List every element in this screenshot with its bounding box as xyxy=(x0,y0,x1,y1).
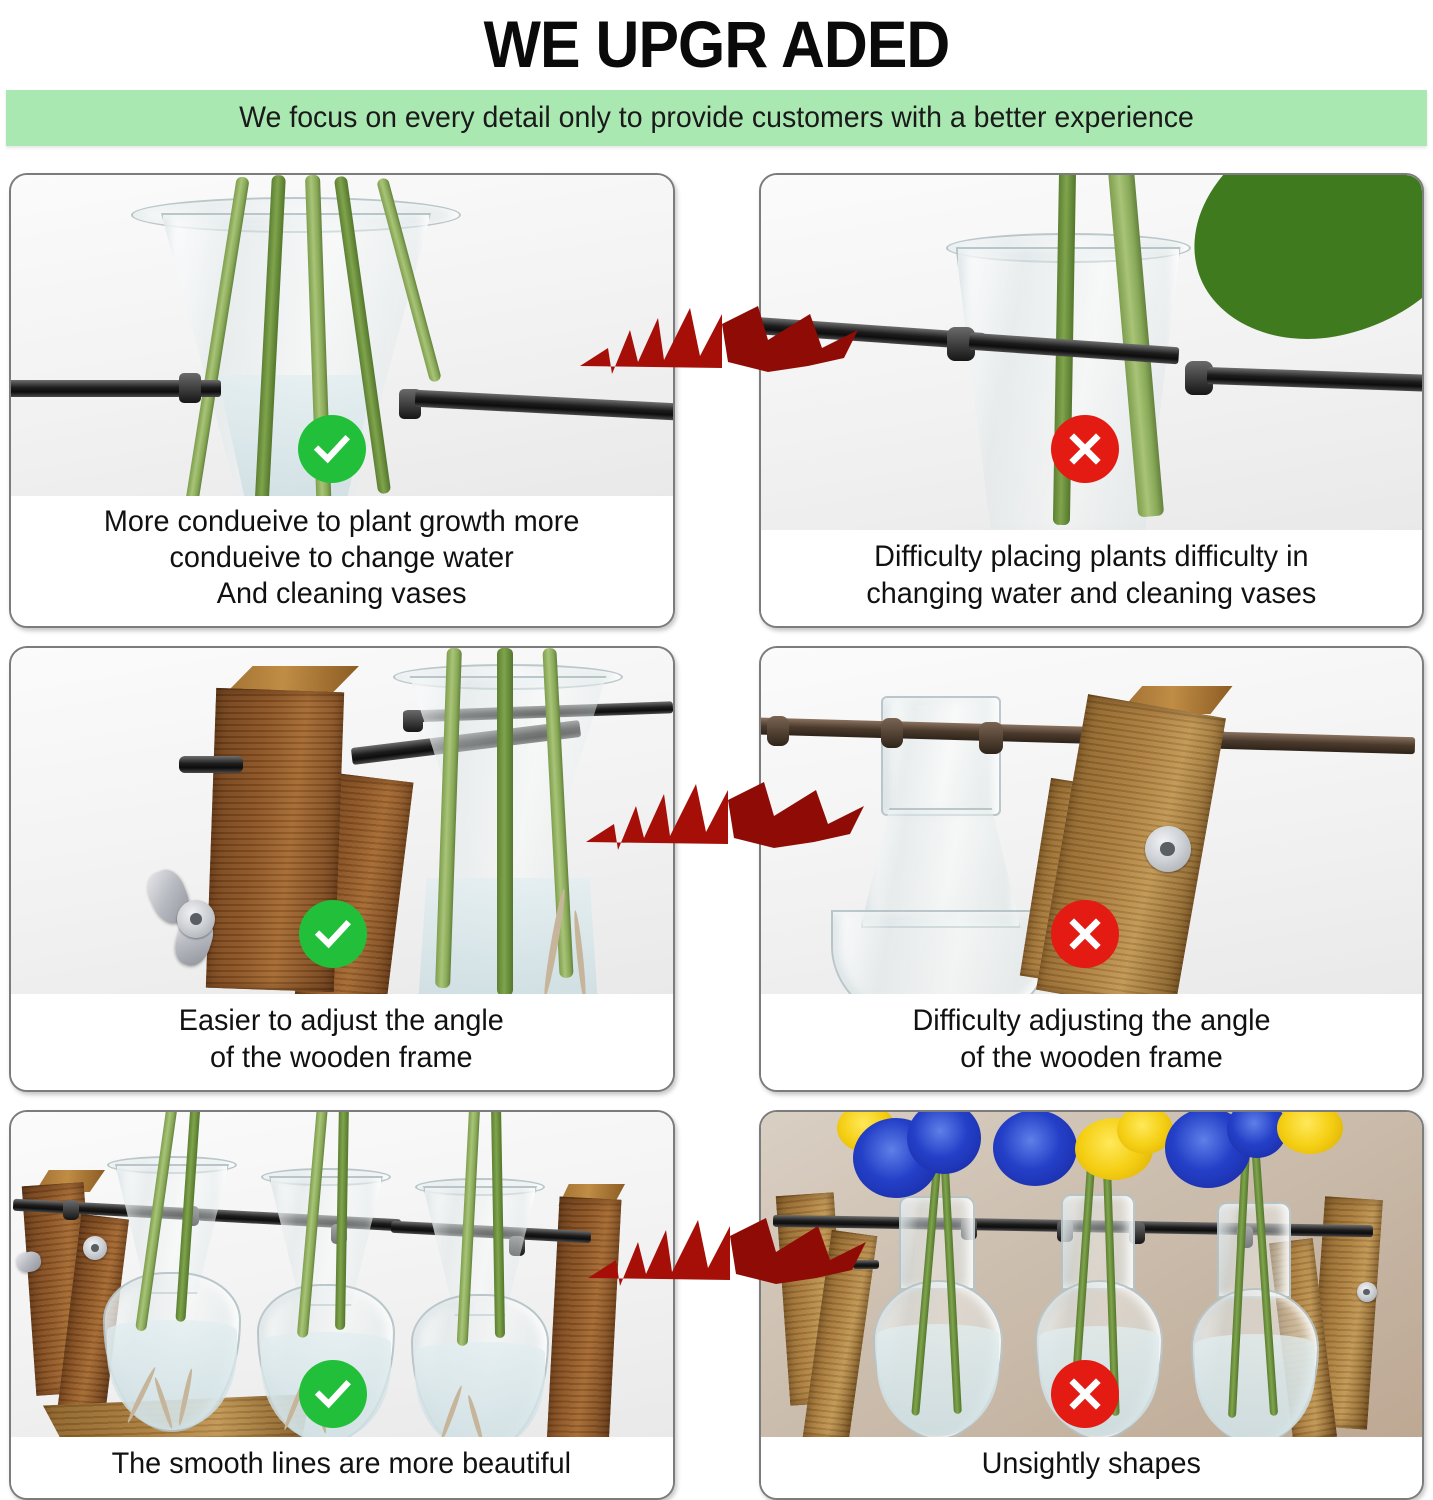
status-badge-bad xyxy=(1051,900,1119,968)
subtitle-text: We focus on every detail only to provide… xyxy=(239,101,1194,135)
comparison-panel-top-left: More condueive to plant growth more cond… xyxy=(9,173,675,628)
comparison-panel-mid-left: Easier to adjust the angle of the wooden… xyxy=(9,646,675,1092)
caption-text: Unsightly shapes xyxy=(982,1445,1201,1482)
check-mark-icon xyxy=(310,427,354,471)
panel-caption-mid-right: Difficulty adjusting the angle of the wo… xyxy=(761,994,1423,1090)
product-photo-good-stand xyxy=(11,1112,673,1437)
product-photo-good-vase xyxy=(11,175,673,496)
check-mark-icon xyxy=(311,912,355,956)
caption-text: Difficulty adjusting the angle of the wo… xyxy=(912,1002,1270,1076)
comparison-panel-bottom-left: The smooth lines are more beautiful xyxy=(9,1110,675,1500)
product-photo-bad-stand xyxy=(761,1112,1423,1437)
product-photo-good-frame xyxy=(11,648,673,994)
panel-caption-top-left: More condueive to plant growth more cond… xyxy=(11,496,673,626)
subtitle-banner: We focus on every detail only to provide… xyxy=(6,90,1427,146)
panel-caption-top-right: Difficulty placing plants difficulty in … xyxy=(761,530,1423,626)
check-mark-icon xyxy=(311,1372,355,1416)
caption-text: Difficulty placing plants difficulty in … xyxy=(866,538,1316,612)
status-badge-bad xyxy=(1051,415,1119,483)
comparison-grid: More condueive to plant growth more cond… xyxy=(0,173,1433,1500)
comparison-panel-top-right: Difficulty placing plants difficulty in … xyxy=(759,173,1425,628)
status-badge-good xyxy=(299,1360,367,1428)
product-photo-bad-frame xyxy=(761,648,1423,994)
page-title: WE UPGR ADED xyxy=(57,0,1375,88)
cross-mark-icon xyxy=(1063,1372,1107,1416)
cross-mark-icon xyxy=(1063,912,1107,956)
panel-caption-bottom-right: Unsightly shapes xyxy=(761,1437,1423,1498)
status-badge-good xyxy=(299,900,367,968)
caption-text: The smooth lines are more beautiful xyxy=(112,1445,571,1482)
product-photo-bad-vase xyxy=(761,175,1423,530)
status-badge-bad xyxy=(1051,1360,1119,1428)
status-badge-good xyxy=(298,415,366,483)
panel-caption-bottom-left: The smooth lines are more beautiful xyxy=(11,1437,673,1498)
comparison-panel-mid-right: Difficulty adjusting the angle of the wo… xyxy=(759,646,1425,1092)
caption-text: Easier to adjust the angle of the wooden… xyxy=(179,1002,504,1076)
caption-text: More condueive to plant growth more cond… xyxy=(104,504,579,612)
comparison-panel-bottom-right: Unsightly shapes xyxy=(759,1110,1425,1500)
panel-caption-mid-left: Easier to adjust the angle of the wooden… xyxy=(11,994,673,1090)
cross-mark-icon xyxy=(1063,427,1107,471)
